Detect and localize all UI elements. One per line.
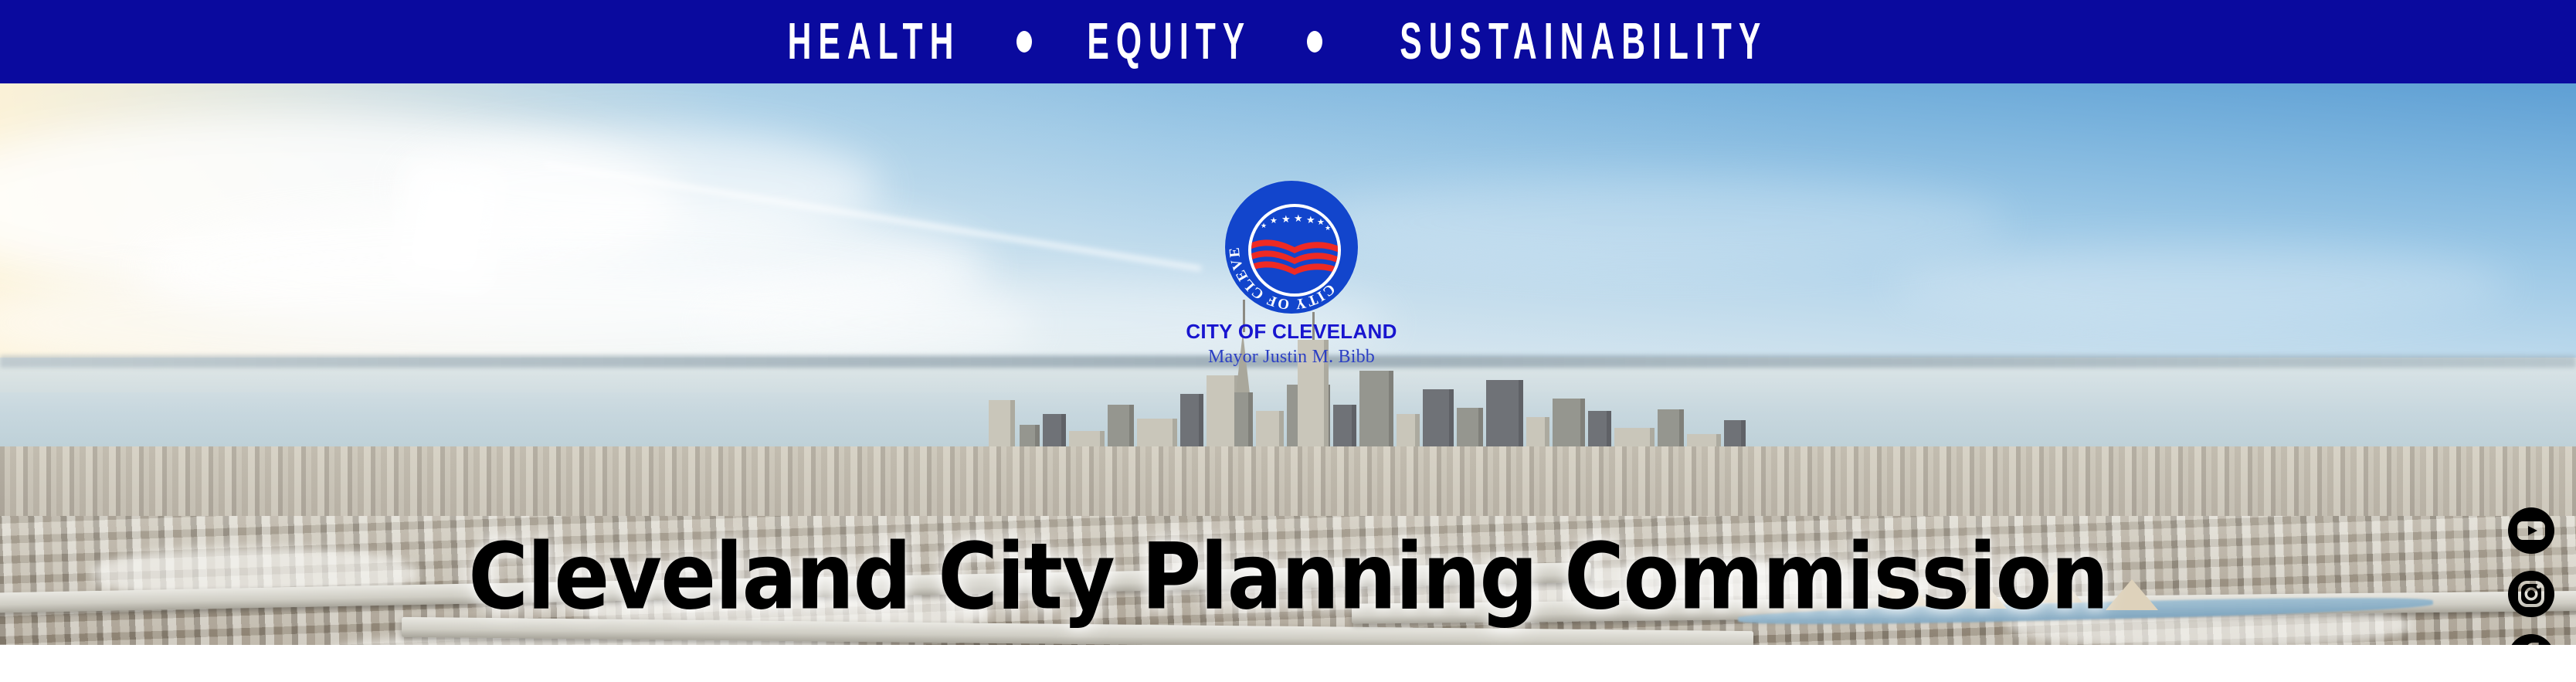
page-root: HEALTH EQUITY SUSTAINABILITY	[0, 0, 2576, 682]
city-of-cleveland-seal-icon: CITY OF CLEVELAND OHIO ★ ★ ★ ★ ★ ★ ★	[1225, 181, 1358, 314]
facebook-icon[interactable]	[2505, 631, 2557, 645]
cloud	[1313, 176, 2008, 269]
hero-photo: Cleveland City Planning Commission	[0, 83, 2576, 645]
tagline-banner: HEALTH EQUITY SUSTAINABILITY	[0, 0, 2576, 83]
cloud-wisp	[394, 162, 502, 290]
instagram-icon[interactable]	[2505, 568, 2557, 620]
bullet-dot-icon	[1016, 31, 1032, 53]
city-logo-block: CITY OF CLEVELAND OHIO ★ ★ ★ ★ ★ ★ ★	[1183, 181, 1400, 368]
tagline-word-equity: EQUITY	[1087, 16, 1251, 68]
cloud	[1892, 246, 2510, 323]
seal-inner-emblem: ★ ★ ★ ★ ★ ★ ★	[1248, 204, 1341, 297]
logo-title: CITY OF CLEVELAND	[1183, 321, 1400, 342]
logo-subtitle: Mayor Justin M. Bibb	[1183, 347, 1400, 367]
bullet-dot-icon	[1307, 31, 1322, 53]
youtube-icon[interactable]	[2505, 504, 2557, 557]
footer-whitespace	[0, 645, 2576, 682]
tagline-word-sustainability: SUSTAINABILITY	[1400, 16, 1767, 68]
tagline-word-health: HEALTH	[787, 16, 960, 68]
page-title: Cleveland City Planning Commission	[0, 531, 2576, 623]
social-links	[2499, 504, 2564, 645]
